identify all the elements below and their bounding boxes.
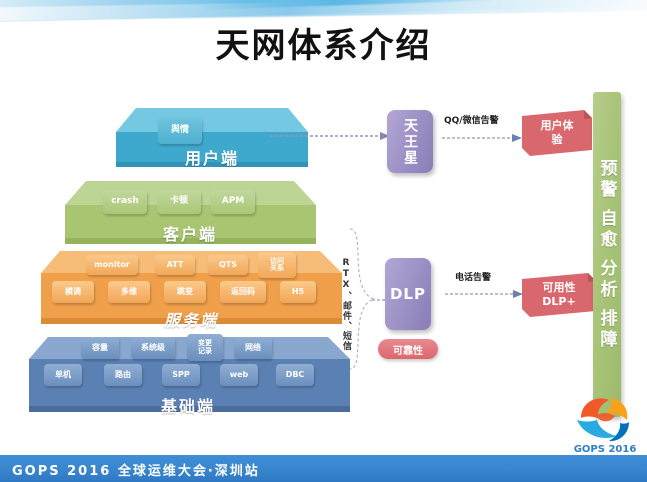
tag-label: 系统级 xyxy=(141,344,165,352)
gops-logo: GOPS 2016 Shenzhen xyxy=(571,392,639,454)
tag-service-end-r2-3: 返回码 xyxy=(220,281,266,303)
green-bar-item-1: 自愈 xyxy=(595,209,620,251)
arrow-label-text: 电话告警 xyxy=(455,273,491,283)
tag-label: 路由 xyxy=(115,371,131,379)
tag-label: DBC xyxy=(286,371,305,379)
tag-client-end-0: crash xyxy=(103,190,147,214)
tag-infra-end-r2-2: SPP xyxy=(162,364,200,386)
arrow-phone xyxy=(443,284,531,304)
tag-label: QTS xyxy=(219,261,237,269)
banner-label-text: 用户体 验 xyxy=(541,119,574,147)
tag-infra-end-r1-2: 变更 记录 xyxy=(187,334,223,361)
banner-availability-label: 可用性 DLP+ xyxy=(522,273,596,317)
tag-service-end-r1-1: ATT xyxy=(155,255,195,275)
node-label: 天王星 xyxy=(400,118,420,166)
tag-user-end-0: 舆情 xyxy=(158,118,202,144)
slide-canvas: 天网体系介绍 舆情 用户端 crash 卡顿 APM 客户端 xyxy=(0,0,647,482)
banner-availability-dlp-plus[interactable]: 可用性 DLP+ xyxy=(522,273,596,317)
tag-client-end-1: 卡顿 xyxy=(157,190,201,214)
node-label: DLP xyxy=(390,285,426,303)
banner-label-text: 可用性 DLP+ xyxy=(542,281,575,309)
arrow-label-qq-wechat: QQ/微信告警 xyxy=(444,113,499,126)
layer-name-text: 服务端 xyxy=(164,311,218,330)
arrow-user-to-tianwangxing xyxy=(268,126,398,146)
layer-name-client-end: 客户端 xyxy=(65,221,315,245)
tag-infra-end-r2-1: 路由 xyxy=(104,364,142,386)
tag-label: 舆情 xyxy=(171,126,189,135)
tag-infra-end-r1-1: 系统级 xyxy=(131,337,175,359)
arrow-label-text: QQ/微信告警 xyxy=(444,116,499,126)
brace-label: RTX、邮件、短信 xyxy=(340,258,353,351)
tag-label: 网络 xyxy=(245,344,261,352)
layer-name-text: 用户端 xyxy=(185,149,239,168)
tag-label: 单机 xyxy=(55,371,71,379)
tag-label: 卡顿 xyxy=(170,197,188,206)
green-bar-item-2: 分析 xyxy=(595,259,620,301)
footer-bar: GOPS 2016 全球运维大会·深圳站 xyxy=(0,455,647,482)
tag-label: crash xyxy=(111,197,139,206)
tag-label: 多维 xyxy=(121,288,137,296)
tag-infra-end-r2-4: DBC xyxy=(276,364,314,386)
banner-user-experience[interactable]: 用户体 验 xyxy=(522,110,592,156)
layer-name-user-end: 用户端 xyxy=(116,145,308,169)
tag-label: H5 xyxy=(292,288,304,296)
tag-service-end-r2-4: H5 xyxy=(280,281,316,303)
layer-name-text: 基础端 xyxy=(161,397,215,416)
tag-label: web xyxy=(230,371,249,379)
green-vertical-bar: 预警 自愈 分析 排障 xyxy=(593,92,621,417)
node-tianwangxing[interactable]: 天王星 xyxy=(387,110,433,173)
tag-service-end-r1-3: 访问 关系 xyxy=(258,252,296,278)
green-bar-item-3: 排障 xyxy=(595,309,620,351)
tag-infra-end-r2-0: 单机 xyxy=(44,364,82,386)
arrow-qq-wechat xyxy=(440,128,530,148)
tag-label: 访问 关系 xyxy=(270,258,284,273)
gops-logo-wordmark: GOPS 2016 xyxy=(571,444,639,455)
tag-label: 模调 xyxy=(65,288,81,296)
footer-text: GOPS 2016 全球运维大会·深圳站 xyxy=(12,460,260,479)
gops-logo-mark xyxy=(571,392,639,444)
tag-infra-end-r1-3: 网络 xyxy=(234,337,272,359)
banner-user-experience-label: 用户体 验 xyxy=(522,110,592,156)
tag-infra-end-r1-0: 容量 xyxy=(81,337,119,359)
tag-client-end-2: APM xyxy=(211,190,255,214)
tag-service-end-r2-1: 多维 xyxy=(108,281,150,303)
layer-name-text: 客户端 xyxy=(163,225,217,244)
tag-service-end-r2-2: 跳变 xyxy=(164,281,206,303)
tag-service-end-r1-0: monitor xyxy=(86,255,138,275)
node-dlp[interactable]: DLP xyxy=(385,258,431,330)
pill-reliability: 可靠性 xyxy=(378,339,438,359)
pill-label: 可靠性 xyxy=(393,342,423,357)
tag-service-end-r1-2: QTS xyxy=(208,255,248,275)
tag-label: 变更 记录 xyxy=(198,340,212,355)
layer-name-infra-end: 基础端 xyxy=(29,393,347,417)
tag-infra-end-r2-3: web xyxy=(220,364,258,386)
tag-label: SPP xyxy=(172,371,190,379)
page-title: 天网体系介绍 xyxy=(0,18,647,67)
green-bar-item-0: 预警 xyxy=(595,159,620,201)
arrow-label-phone: 电话告警 xyxy=(455,270,491,283)
brace-label-text: RTX、邮件、短信 xyxy=(341,258,351,351)
layer-name-service-end: 服务端 xyxy=(41,307,341,331)
tag-label: monitor xyxy=(94,261,130,269)
tag-service-end-r2-0: 模调 xyxy=(52,281,94,303)
tag-label: 返回码 xyxy=(231,288,255,296)
tag-label: APM xyxy=(222,197,245,206)
tag-label: 容量 xyxy=(92,344,108,352)
tag-label: ATT xyxy=(167,261,184,269)
tag-label: 跳变 xyxy=(177,288,193,296)
